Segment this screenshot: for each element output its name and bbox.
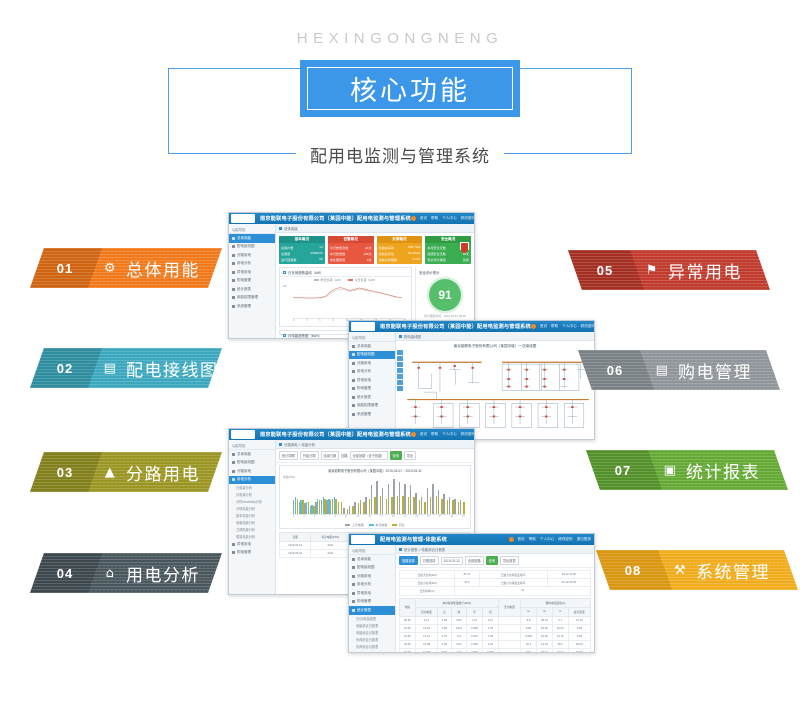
cell-value: 48.2	[552, 641, 568, 649]
sidebar-item-reports[interactable]: 统计报表	[349, 606, 395, 615]
summary-table: 日最大负荷(kW)87.24日最大负荷发生时间03-12 11:30 日最小负荷…	[399, 570, 591, 596]
menu-icon	[352, 558, 355, 561]
line-legend: 昨日负荷（kW） 今日负荷（kW）	[280, 277, 411, 283]
summary-label: 日最大负荷(kW)	[400, 571, 455, 579]
screenshot-report[interactable]: 配用电监测与管理-体能系统 首页 帮助 个人中心 修改密码 退出登录 功能导航 …	[348, 533, 595, 653]
summary-label: 日最小负荷(kW)	[400, 579, 455, 587]
y-axis-label: kW	[283, 285, 287, 288]
app-title: 南京能联电子股份有限公司（某园中能）配用电监测与管理系统	[260, 431, 411, 438]
breadcrumb-label: 分路用电 > 电量分析	[284, 442, 315, 447]
bar-group	[421, 476, 426, 515]
summary-value: 03-12 03:40	[547, 579, 590, 587]
legend-swatch	[392, 524, 397, 526]
stat-card-safety[interactable]: 安全概况 本月安全天数30天 连续安全天数13天 安全评分等级优秀	[425, 236, 471, 264]
topnav-home[interactable]: 首页	[518, 537, 525, 542]
sidebar[interactable]: 功能导航 总体用能 配电接线图 分路用电 用电分析 异常用电 购电管理 统计报表…	[229, 224, 276, 338]
bar-group	[404, 476, 409, 515]
date-input[interactable]: 2019-03-12	[441, 557, 463, 565]
menu-icon	[232, 245, 235, 248]
sidebar-item-label: 基本电费分析	[236, 513, 255, 518]
sidebar-subitem-load-daily[interactable]: 负荷综合日报表	[349, 636, 395, 643]
sidebar-subitem-tou[interactable]: 分时electricity分析	[229, 498, 275, 505]
app-title: 南京能联电子股份有限公司（某园中能）配用电监测与管理系统	[380, 323, 531, 330]
daily-energy-chart: 电量(kWh) 135791113151719212325272931	[283, 474, 467, 520]
sidebar-item-label: 总体用能	[357, 344, 371, 349]
export-report-button[interactable]: 导出报表	[500, 556, 519, 565]
refresh-icon[interactable]	[397, 386, 403, 391]
sidebar-subitem-energy-fee[interactable]: 电度电费分析	[229, 519, 275, 526]
x-tick: 19	[392, 515, 395, 520]
notification-bell-icon[interactable]	[411, 216, 416, 221]
cell-value: 02:30	[400, 649, 416, 652]
banner-number: 07	[594, 450, 652, 490]
cell-value: 13.19	[415, 624, 437, 632]
column-header: 峰	[451, 607, 467, 616]
bar-group	[354, 476, 359, 515]
stat-card-rows: 今日告警次数24次 本月告警数136次 未处理告警3次	[328, 243, 374, 264]
main-content: 配电接线图 南京能联电子股份有限公司（某园中能）一次接线图	[396, 332, 594, 439]
cell-value: 12.04	[552, 649, 568, 652]
topnav-profile[interactable]: 个人中心	[562, 324, 576, 329]
sidebar-item-permissions[interactable]: 用能权限管理	[349, 402, 395, 411]
cell-value: 9.52	[521, 624, 537, 632]
sidebar-item-abnormal[interactable]: 异常用电	[229, 268, 275, 277]
cell-value: 13.08	[415, 641, 437, 649]
feature-banner-08[interactable]: 08 ⚒系统管理	[596, 550, 798, 590]
sidebar-item-label: 用能权限管理	[357, 403, 378, 408]
column-header: Ib	[536, 607, 552, 616]
breadcrumb-marker-icon	[399, 548, 402, 551]
cell-value: 00:30	[400, 616, 416, 624]
sidebar-item-wiring[interactable]: 配电接线图	[229, 459, 275, 468]
cell-value: 16.30	[536, 632, 552, 640]
sidebar-item-label: 用电分析	[357, 369, 371, 374]
start-date-input[interactable]: 开始日期	[300, 451, 319, 460]
cell-value: 28.04	[536, 616, 552, 624]
sidebar-item-purchase[interactable]: 购电管理	[349, 385, 395, 394]
legend-swatch	[345, 524, 350, 526]
menu-icon	[232, 453, 235, 456]
sidebar-item-permissions[interactable]: 用能权限管理	[229, 294, 275, 303]
cell-date: 2019-03-02	[280, 550, 311, 558]
sidebar-item-label: 统计报表	[357, 608, 371, 613]
bar	[388, 484, 389, 516]
bar	[421, 497, 422, 515]
summary-value: 43	[455, 587, 591, 595]
summary-label: 日最大负荷发生时间	[479, 571, 547, 579]
stat-row: 总容量2800kVA	[281, 251, 323, 256]
layer-icon[interactable]	[397, 374, 403, 379]
sidebar-item-wiring[interactable]: 配电接线图	[349, 564, 395, 573]
sidebar-item-purchase[interactable]: 购电管理	[349, 598, 395, 607]
bar-group	[360, 476, 365, 515]
sidebar-subitem-monthly[interactable]: 月电量分析	[229, 491, 275, 498]
legend-swatch	[369, 524, 374, 526]
sidebar-item-overall[interactable]: 总体用能	[349, 555, 395, 564]
cell-value: 14.2	[415, 616, 437, 624]
breadcrumb-marker-icon	[279, 227, 282, 230]
sidebar-item-label: 购电管理	[357, 386, 371, 391]
cell-value: 1.27	[467, 616, 483, 624]
stat-card-title: 安全概况	[425, 236, 471, 243]
banner-label: 用电分析	[126, 561, 200, 586]
sidebar-header: 功能导航	[229, 441, 275, 450]
sidebar-item-analysis[interactable]: 用电分析	[229, 260, 275, 269]
table-group-header-row: 时段 本时段电能量统计(kWh) 无功电量 瞬时电流最值(A)	[400, 598, 591, 607]
notification-bell-icon[interactable]	[531, 324, 536, 329]
end-date-input[interactable]: 结束日期	[321, 451, 340, 460]
sidebar-item-label: 购电管理	[237, 550, 251, 555]
cell-value: 01:30	[400, 632, 416, 640]
bar-group	[415, 476, 420, 515]
menu-icon	[352, 413, 355, 416]
zoom-in-icon[interactable]	[397, 350, 403, 355]
topnav-profile[interactable]: 个人中心	[442, 432, 456, 437]
sidebar-item-label: 分路用电	[357, 574, 371, 579]
breadcrumb-label: 配电接线图	[404, 334, 421, 339]
titlebar-actions[interactable]: 首页 帮助 个人中心 修改密码 退出登录	[531, 324, 595, 329]
export-button[interactable]: 导出	[404, 451, 416, 460]
header-subtitle-wrap: 配用电监测与管理系统	[168, 140, 632, 168]
cell-value: 20.1	[521, 641, 537, 649]
bar	[399, 482, 400, 515]
company-logo	[231, 214, 255, 223]
print-icon[interactable]	[397, 380, 403, 385]
sidebar-item-label: 配电接线图	[237, 244, 255, 249]
sidebar-subitem-daily-comp[interactable]: 电能综合日报表	[349, 622, 395, 629]
topnav-password[interactable]: 修改密码	[581, 324, 595, 329]
zoom-out-icon[interactable]	[397, 356, 403, 361]
bar	[410, 485, 411, 515]
page-subtitle: 配用电监测与管理系统	[296, 142, 504, 167]
score-caption: 评分更新时间：2019-03-12 09:00	[424, 314, 466, 318]
x-tick: 15	[368, 515, 371, 520]
column-header: 日期	[280, 533, 311, 542]
single-line-diagram[interactable]: 南京能联电子股份有限公司（某园中能）一次接线图	[396, 341, 594, 439]
topnav-help[interactable]: 帮助	[551, 324, 558, 329]
sidebar-item-label: 用能权限管理	[237, 295, 258, 300]
banner-label-wrap: ⌂用电分析	[102, 553, 200, 593]
menu-icon	[352, 583, 355, 586]
sidebar-subitem-dm-energy[interactable]: 日/月电量报表	[349, 615, 395, 622]
sidebar-item-wiring[interactable]: 配电接线图	[349, 351, 395, 360]
banner-number: 04	[36, 553, 94, 593]
breadcrumb: 分路用电 > 电量分析	[276, 440, 474, 449]
topnav-password[interactable]: 修改密码	[461, 216, 475, 221]
cell-value	[498, 649, 520, 652]
tools-icon: ⚒	[672, 562, 689, 579]
topnav-logout[interactable]: 退出登录	[577, 537, 591, 542]
topnav-password[interactable]: 修改密码	[461, 432, 475, 437]
topnav-help[interactable]: 帮助	[529, 537, 536, 542]
safety-score-gauge: 91	[429, 279, 461, 311]
sidebar[interactable]: 功能导航 总体用能 配电接线图 分路用电 用电分析 异常用电 购电管理 统计报表…	[349, 545, 396, 652]
query-button[interactable]: 查询	[390, 451, 402, 460]
stat-card-alarm[interactable]: 告警概况 今日告警次数24次 本月告警数136次 未处理告警3次	[328, 236, 374, 264]
banner-label: 总体用能	[126, 256, 200, 281]
stat-value: 13	[319, 245, 322, 250]
sidebar-item-analysis[interactable]: 用电分析	[229, 476, 275, 485]
x-tick: 7	[324, 515, 325, 520]
topnav-home[interactable]: 首页	[420, 216, 427, 221]
panel-title: 日负荷趋势曲线（kW）	[288, 270, 323, 275]
sidebar-item-label: 总体用能	[357, 557, 371, 562]
stat-value: 136次	[363, 251, 371, 256]
filter-toolbar[interactable]: 回路选择 日期选择 2019-03-12 全部回路 查询 导出报表	[396, 554, 594, 568]
sidebar-item-label: 统计报表	[357, 395, 371, 400]
sidebar-item-label: 日/月电量报表	[356, 616, 376, 621]
legend-item: 今日负荷（kW）	[348, 278, 377, 282]
notification-bell-icon[interactable]	[411, 432, 416, 437]
cell-value: 0.060	[521, 632, 537, 640]
bar	[415, 493, 416, 516]
diagram-toolbar[interactable]	[397, 350, 403, 391]
feature-banner-03[interactable]: 03 ▲分路用电	[30, 452, 222, 492]
sidebar-header: 功能导航	[349, 333, 395, 342]
menu-icon	[232, 288, 235, 291]
topnav-help[interactable]: 帮助	[431, 432, 438, 437]
breadcrumb: 配电接线图	[396, 332, 594, 341]
stat-label: 当前功率因数	[379, 257, 398, 262]
menu-icon	[232, 254, 235, 257]
sidebar-item-label: 电度电费分析	[236, 520, 255, 525]
sidebar-item-label: 分时electricity分析	[236, 499, 262, 504]
sidebar-item-branch[interactable]: 分路用电	[349, 359, 395, 368]
sidebar-item-label: 异常用电	[237, 270, 251, 275]
sidebar-item-branch[interactable]: 分路用电	[229, 251, 275, 260]
sidebar-subitem-demand-fee[interactable]: 需量电费分析	[229, 533, 275, 540]
sidebar-item-wiring[interactable]: 配电接线图	[229, 243, 275, 252]
load-trend-chart: kW 03691215182123	[283, 284, 408, 324]
column-header: 平	[467, 607, 483, 616]
table-row: 日负荷率(%)43	[400, 587, 591, 595]
sidebar-item-label: 力调电费分析	[236, 527, 255, 532]
app-titlebar: 南京能联电子股份有限公司（某园中能）配用电监测与管理系统 首页 帮助 个人中心 …	[229, 429, 474, 440]
sidebar[interactable]: 功能导航 总体用能 配电接线图 分路用电 用电分析 日电量分析 月电量分析 分时…	[229, 440, 276, 594]
sidebar-item-reports[interactable]: 统计报表	[349, 393, 395, 402]
sidebar-item-purchase[interactable]: 购电管理	[229, 549, 275, 558]
titlebar-actions[interactable]: 首页 帮助 个人中心 修改密码 退出登录	[411, 432, 475, 437]
sidebar-item-overall[interactable]: 总体用能	[229, 450, 275, 459]
stat-card-basic[interactable]: 基本概况 总用户数13 总容量2800kVA 运行回路数98	[279, 236, 325, 264]
stat-row: 运行回路数98	[281, 257, 323, 262]
sidebar-item-reports[interactable]: 统计报表	[229, 285, 275, 294]
legend-label: 昨日负荷（kW）	[321, 278, 343, 282]
sidebar[interactable]: 功能导航 总体用能 配电接线图 分路用电 用电分析 异常用电 购电管理 统计报表…	[349, 332, 396, 439]
topnav-password[interactable]: 修改密码	[558, 537, 572, 542]
sidebar-item-branch[interactable]: 分路用电	[229, 467, 275, 476]
circuit-select[interactable]: 回路选择	[399, 556, 418, 565]
sidebar-subitem-monthly-comp[interactable]: 电能综合月报表	[349, 629, 395, 636]
menu-icon	[232, 543, 235, 546]
sidebar-item-label: 统计报表	[237, 287, 251, 292]
load-trend-panel: 日负荷趋势曲线（kW） 昨日负荷（kW） 今日负荷（kW） kW	[279, 267, 412, 327]
header-title-inner: 核心功能	[307, 67, 513, 110]
bar-group	[299, 476, 304, 515]
sidebar-item-label: 负荷综合月报表	[356, 644, 378, 649]
menu-icon	[232, 305, 235, 308]
titlebar-actions[interactable]: 首页 帮助 个人中心 修改密码 退出登录	[509, 537, 592, 542]
feature-banner-04[interactable]: 04 ⌂用电分析	[30, 553, 222, 593]
sidebar-item-analysis[interactable]: 用电分析	[349, 581, 395, 590]
feature-banner-05[interactable]: 05 ⚑异常用电	[568, 250, 770, 290]
query-button[interactable]: 查询	[486, 556, 498, 565]
bar-group	[326, 476, 331, 515]
cell-value	[498, 641, 520, 649]
bar	[460, 500, 461, 515]
legend-item: 上月电量	[345, 523, 364, 527]
bar	[382, 488, 383, 515]
sidebar-item-label: 配电接线图	[237, 460, 255, 465]
cell-value: 3.4	[451, 632, 467, 640]
column-header: 有功电量(kWh)	[311, 533, 350, 542]
bar	[438, 490, 439, 516]
x-axis-ticks: 135791113151719212325272931	[293, 515, 465, 520]
banner-number: 01	[36, 248, 94, 288]
menu-icon	[352, 387, 355, 390]
x-tick: 21	[404, 515, 407, 520]
cell-value: 13.70	[552, 632, 568, 640]
cell-value: 3.011	[451, 624, 467, 632]
topnav-profile[interactable]: 个人中心	[540, 537, 554, 542]
stat-value: 0.974	[413, 257, 421, 262]
sidebar-item-system[interactable]: 系统管理	[349, 410, 395, 419]
summary-value: 03-12 11:30	[547, 571, 590, 579]
chart-icon	[283, 334, 286, 337]
stat-row: 当前总无功89.4kVar	[379, 251, 421, 256]
period-select[interactable]: 统计周期	[279, 451, 298, 460]
page-header: HEXINGONGNENG 核心功能 配用电监测与管理系统	[0, 0, 800, 185]
topnav-help[interactable]: 帮助	[431, 216, 438, 221]
cell-value: 8.8	[521, 616, 537, 624]
sidebar-item-overall[interactable]: 总体用能	[229, 234, 275, 243]
banner-number: 06	[586, 350, 644, 390]
sidebar-subitem-basic-fee[interactable]: 基本电费分析	[229, 512, 275, 519]
sidebar-header: 功能导航	[229, 225, 275, 234]
panel-title: 月电能趋势图（kWh）	[288, 333, 322, 338]
x-tick: 9	[335, 515, 336, 520]
screenshot-wiring[interactable]: 南京能联电子股份有限公司（某园中能）配用电监测与管理系统 首页 帮助 个人中心 …	[348, 320, 595, 440]
banner-label: 系统管理	[696, 558, 770, 583]
diagram-svg	[404, 351, 592, 437]
sidebar-item-overall[interactable]: 总体用能	[349, 342, 395, 351]
bar	[427, 488, 428, 515]
cell-value: 02:00	[400, 641, 416, 649]
titlebar-actions[interactable]: 首页 帮助 个人中心 修改密码 退出登录	[411, 216, 475, 221]
stat-card-rows: 总用户数13 总容量2800kVA 运行回路数98	[279, 243, 325, 264]
cell-value: 3241	[311, 542, 350, 550]
feature-banner-07[interactable]: 07 ▣统计报表	[586, 450, 788, 490]
app-body: 功能导航 总体用能 配电接线图 分路用电 用电分析 异常用电 购电管理 统计报表…	[349, 545, 594, 652]
stat-value: 24次	[365, 245, 372, 250]
menu-icon	[352, 575, 355, 578]
circuit-select[interactable]: 全部回路（含子回路）	[350, 451, 388, 460]
topnav-home[interactable]: 首页	[540, 324, 547, 329]
x-tick: 11	[345, 515, 347, 520]
sidebar-item-purchase[interactable]: 购电管理	[229, 277, 275, 286]
sidebar-item-label: 配电接线图	[357, 565, 375, 570]
cell-value: 10.09	[552, 624, 568, 632]
feature-banner-01[interactable]: 01 ⚙总体用能	[30, 248, 222, 288]
sidebar-item-abnormal[interactable]: 异常用电	[349, 589, 395, 598]
cell-value: 0.054	[482, 649, 498, 652]
summary-value: 13.9	[455, 579, 479, 587]
bar	[393, 479, 394, 515]
cell-value: 48.00	[568, 641, 590, 649]
banner-label: 统计报表	[686, 458, 760, 483]
sidebar-item-label: 月电量分析	[236, 492, 252, 497]
sidebar-item-system[interactable]: 系统管理	[229, 302, 275, 311]
feature-banner-02[interactable]: 02 ▤配电接线图	[30, 348, 222, 388]
stat-label: 运行回路数	[281, 257, 296, 262]
sidebar-subitem-daily[interactable]: 日电量分析	[229, 484, 275, 491]
fit-icon[interactable]	[397, 368, 403, 373]
sidebar-item-branch[interactable]: 分路用电	[349, 572, 395, 581]
sidebar-item-abnormal[interactable]: 异常用电	[349, 376, 395, 385]
bar	[443, 494, 444, 515]
topnav-home[interactable]: 首页	[420, 432, 427, 437]
menu-icon	[352, 404, 355, 407]
sidebar-subitem-load-monthly[interactable]: 负荷综合月报表	[349, 643, 395, 650]
bar-group	[399, 476, 404, 515]
menu-icon	[352, 353, 355, 356]
cell-value: 13.70	[568, 616, 590, 624]
sidebar-item-analysis[interactable]: 用电分析	[349, 368, 395, 377]
sidebar-item-abnormal[interactable]: 异常用电	[229, 540, 275, 549]
sidebar-subitem-pf-fee[interactable]: 力调电费分析	[229, 526, 275, 533]
filter-toolbar[interactable]: 统计周期 开始日期 结束日期 回路 全部回路（含子回路） 查询 导出	[276, 449, 474, 463]
legend-item: 同比	[392, 523, 405, 527]
all-circuits-option[interactable]: 全部回路	[465, 556, 484, 565]
stat-card-title: 告警概况	[328, 236, 374, 243]
pan-icon[interactable]	[397, 362, 403, 367]
bar-group	[432, 476, 437, 515]
column-header: 有功电量	[415, 607, 437, 616]
topnav-profile[interactable]: 个人中心	[442, 216, 456, 221]
chart-title: 南京能联电子股份有限公司（某园中能）2019-03-01 ~ 2019-03-3…	[280, 466, 470, 473]
stat-value: 588.7kW	[408, 245, 420, 250]
cell-value: 1.78	[482, 624, 498, 632]
x-tick: 17	[380, 515, 383, 520]
sidebar-item-label: 总体用能	[237, 236, 251, 241]
breadcrumb: 统计报表 > 电能综合日报表	[396, 545, 594, 554]
bar-group	[449, 476, 454, 515]
company-logo	[231, 430, 255, 439]
sidebar-item-label: 系统管理	[237, 304, 251, 309]
menu-icon	[232, 271, 235, 274]
cell-value: 4.30	[438, 641, 451, 649]
legend-label: 上月电量	[352, 523, 364, 527]
cell-value: 18.0	[521, 649, 537, 652]
banner-label: 购电管理	[678, 358, 752, 383]
x-tick: 23	[415, 515, 418, 520]
breadcrumb: 总体用能	[276, 224, 474, 233]
bar-group	[293, 476, 298, 515]
cell-value: 4120	[311, 550, 350, 558]
banner-number: 02	[36, 348, 94, 388]
bar	[338, 502, 339, 516]
breadcrumb-label: 统计报表 > 电能综合日报表	[404, 547, 445, 552]
notification-bell-icon[interactable]	[509, 537, 514, 542]
feature-banner-06[interactable]: 06 ▤购电管理	[578, 350, 780, 390]
stat-card-title: 负荷概况	[377, 236, 423, 243]
bar-group	[427, 476, 432, 515]
table-row: 01:0013.191.803.0110.9951.789.5218.3010.…	[400, 624, 591, 632]
bar-group	[338, 476, 343, 515]
sidebar-header: 功能导航	[349, 546, 395, 555]
stat-card-load[interactable]: 负荷概况 当前总有功588.7kW 当前总无功89.4kVar 当前功率因数0.…	[377, 236, 423, 264]
sidebar-subitem-itemized[interactable]: 分项电量分析	[229, 505, 275, 512]
